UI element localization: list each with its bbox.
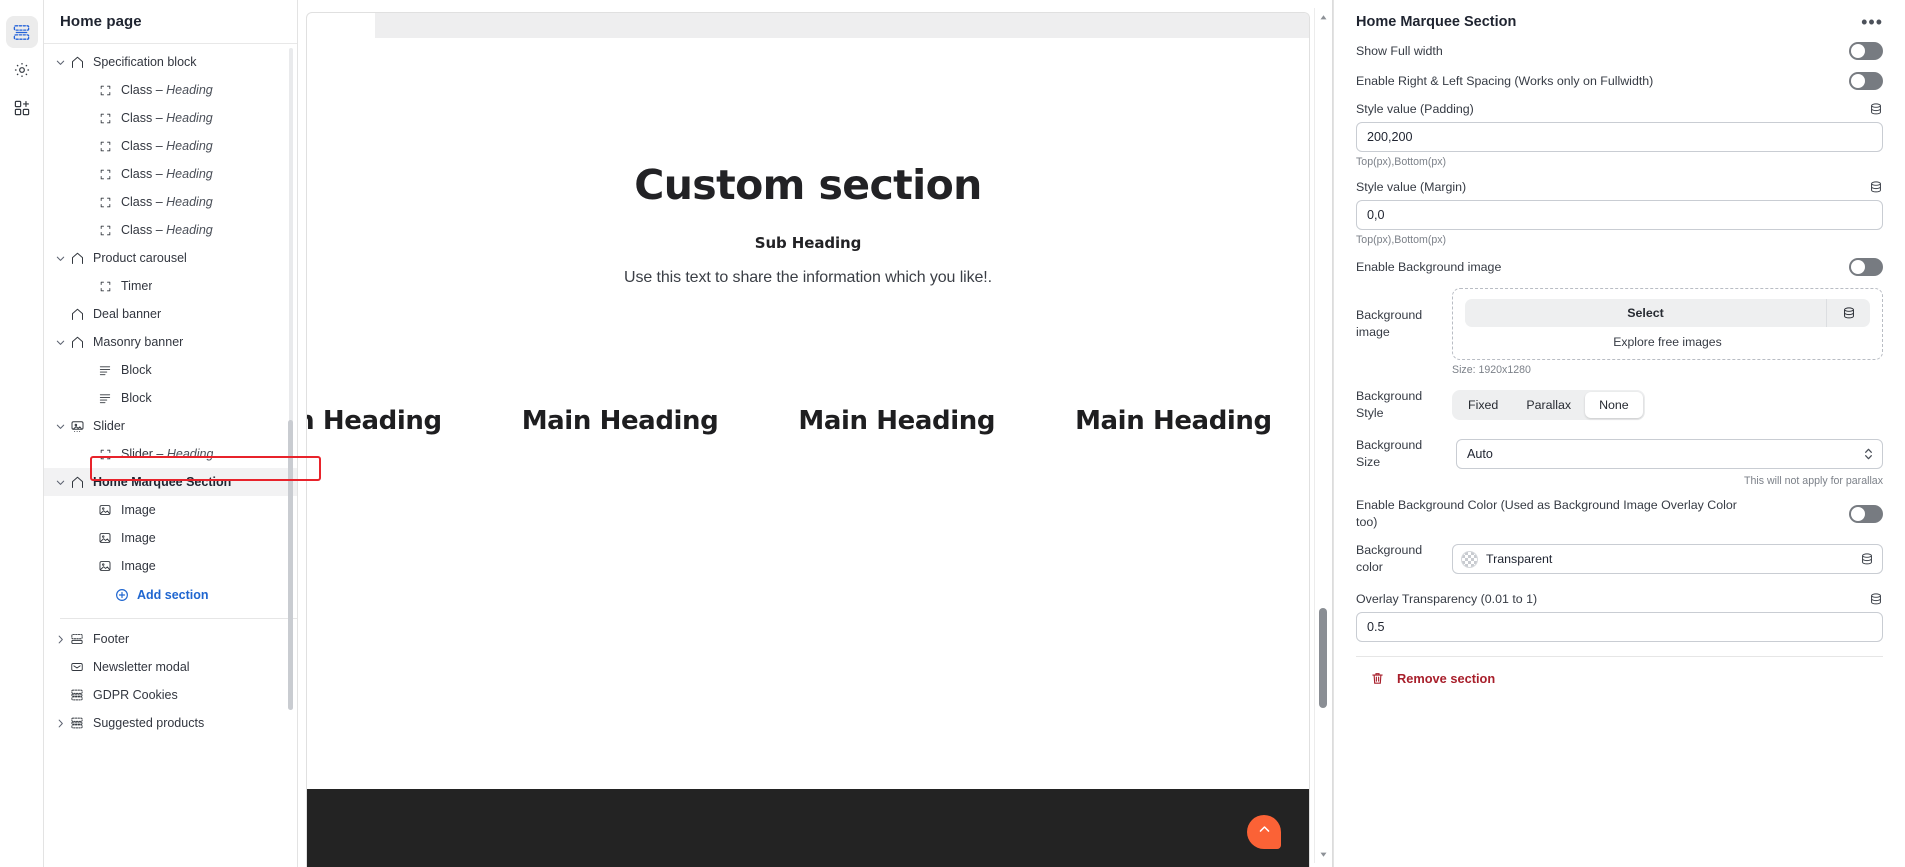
- hero-title: Custom section: [307, 163, 1309, 208]
- block-icon: [96, 445, 114, 463]
- image-icon: [96, 529, 114, 547]
- tree-item-slider[interactable]: Slider – Heading: [44, 440, 297, 468]
- chevron-down-icon[interactable]: [52, 418, 68, 434]
- background-image-size-note: Size: 1920x1280: [1452, 364, 1883, 376]
- image-icon: [96, 557, 114, 575]
- tree-item-label: GDPR Cookies: [93, 688, 178, 702]
- tree-item-gdpr-cookies[interactable]: GDPR Cookies: [44, 681, 297, 709]
- overlay-transparency-dynamic-source-icon[interactable]: [1869, 592, 1883, 606]
- tree-scroll-area[interactable]: Specification blockClass – HeadingClass …: [44, 44, 297, 867]
- tree-item-specification-block[interactable]: Specification block: [44, 48, 297, 76]
- background-size-select[interactable]: Auto: [1456, 439, 1883, 469]
- tree-item-label: Block: [121, 391, 152, 405]
- tree-item-label: Footer: [93, 632, 129, 646]
- explore-free-images-link[interactable]: Explore free images: [1613, 335, 1721, 349]
- tree-item-label: Slider – Heading: [121, 447, 213, 461]
- tree-item-timer[interactable]: Timer: [44, 272, 297, 300]
- enable-bg-color-label: Enable Background Color (Used as Backgro…: [1356, 497, 1756, 530]
- chevron-right-icon[interactable]: [52, 631, 68, 647]
- enable-bg-image-label: Enable Background image: [1356, 259, 1501, 276]
- transparent-swatch-icon: [1461, 551, 1478, 568]
- padding-label: Style value (Padding): [1356, 102, 1474, 116]
- settings-header: Home Marquee Section •••: [1356, 0, 1883, 42]
- preview-canvas: Custom section Sub Heading Use this text…: [298, 0, 1333, 867]
- background-size-note: This will not apply for parallax: [1356, 475, 1883, 487]
- tree-item-label: Class – Heading: [121, 223, 213, 237]
- tree-item-label: Class – Heading: [121, 111, 213, 125]
- scroll-down-arrow-icon[interactable]: [1318, 849, 1328, 859]
- sections-icon: [12, 23, 31, 42]
- tree-item-label: Image: [121, 531, 156, 545]
- padding-dynamic-source-icon[interactable]: [1869, 102, 1883, 116]
- preview-top-band: [375, 13, 1309, 38]
- tree-header: Home page: [44, 0, 297, 44]
- tree-item-label: Image: [121, 503, 156, 517]
- back-to-top-button[interactable]: [1247, 815, 1281, 849]
- chevron-down-icon[interactable]: [52, 54, 68, 70]
- tree-item-deal-banner[interactable]: Deal banner: [44, 300, 297, 328]
- background-image-select-group: Select: [1465, 299, 1870, 327]
- tree-item-footer[interactable]: Footer: [44, 625, 297, 653]
- background-style-option-fixed[interactable]: Fixed: [1454, 392, 1512, 418]
- tree-item-label: Class – Heading: [121, 83, 213, 97]
- select-image-dynamic-source-icon[interactable]: [1826, 299, 1870, 327]
- overlay-transparency-label-row: Overlay Transparency (0.01 to 1): [1356, 592, 1883, 606]
- chevron-updown-icon: [1863, 447, 1874, 462]
- tree-item-class[interactable]: Class – Heading: [44, 76, 297, 104]
- tree-item-class[interactable]: Class – Heading: [44, 132, 297, 160]
- background-image-label: Background image: [1356, 307, 1438, 340]
- show-full-width-row: Show Full width: [1356, 42, 1883, 60]
- canvas-scrollbar-thumb[interactable]: [1319, 608, 1327, 708]
- add-app-block-icon: [13, 99, 31, 117]
- tree-item-suggested-products[interactable]: Suggested products: [44, 709, 297, 737]
- margin-label: Style value (Margin): [1356, 180, 1466, 194]
- marquee-item: Main Heading: [798, 406, 995, 436]
- canvas-scrollbar[interactable]: [1314, 8, 1330, 863]
- text-lines-icon: [96, 389, 114, 407]
- remove-section-label: Remove section: [1397, 671, 1495, 686]
- marquee-item: Main Heading: [307, 406, 442, 436]
- tree-item-label: Timer: [121, 279, 152, 293]
- rail-item-sections[interactable]: [6, 16, 38, 48]
- tree-item-newsletter-modal[interactable]: Newsletter modal: [44, 653, 297, 681]
- overlay-transparency-input[interactable]: [1356, 612, 1883, 642]
- home-icon: [68, 53, 86, 71]
- tree-divider: [60, 618, 297, 619]
- add-section-label: Add section: [137, 588, 209, 602]
- tree-item-image[interactable]: Image: [44, 524, 297, 552]
- padding-input[interactable]: [1356, 122, 1883, 152]
- block-icon: [96, 109, 114, 127]
- chevron-down-icon[interactable]: [52, 250, 68, 266]
- tree-item-label: Home Marquee Section: [93, 475, 231, 489]
- tree-item-label: Specification block: [93, 55, 197, 69]
- right-left-spacing-label: Enable Right & Left Spacing (Works only …: [1356, 73, 1653, 90]
- padding-label-row: Style value (Padding): [1356, 102, 1883, 116]
- background-style-label: Background Style: [1356, 388, 1438, 421]
- background-color-dynamic-source-icon[interactable]: [1860, 552, 1874, 566]
- settings-gear-icon: [13, 61, 31, 79]
- background-color-label: Background color: [1356, 542, 1438, 575]
- show-full-width-toggle[interactable]: [1849, 42, 1883, 60]
- chevron-down-icon[interactable]: [52, 474, 68, 490]
- tree-item-label: Slider: [93, 419, 125, 433]
- tree-item-block[interactable]: Block: [44, 356, 297, 384]
- hero-subheading: Sub Heading: [307, 234, 1309, 252]
- block-icon: [96, 193, 114, 211]
- tree-item-label: Class – Heading: [121, 195, 213, 209]
- tree-item-label: Newsletter modal: [93, 660, 190, 674]
- footer-icon: [68, 630, 86, 648]
- overlay-transparency-label: Overlay Transparency (0.01 to 1): [1356, 592, 1537, 606]
- tree-item-label: Masonry banner: [93, 335, 183, 349]
- tree-item-label: Deal banner: [93, 307, 161, 321]
- margin-input[interactable]: [1356, 200, 1883, 230]
- background-color-value: Transparent: [1486, 552, 1852, 566]
- rail-item-app-blocks[interactable]: [6, 92, 38, 124]
- tree-scrollbar-thumb[interactable]: [288, 420, 293, 710]
- enable-bg-image-toggle[interactable]: [1849, 258, 1883, 276]
- tree-item-slider[interactable]: Slider: [44, 412, 297, 440]
- chevron-up-icon: [1257, 822, 1272, 842]
- theme-editor-app: Home page Specification blockClass – Hea…: [0, 0, 1905, 867]
- rail-item-settings[interactable]: [6, 54, 38, 86]
- tree-item-block[interactable]: Block: [44, 384, 297, 412]
- section-tree-panel: Home page Specification blockClass – Hea…: [44, 0, 298, 867]
- add-section-button[interactable]: Add section: [44, 580, 297, 610]
- background-style-option-none[interactable]: None: [1585, 392, 1643, 418]
- storefront-preview-frame[interactable]: Custom section Sub Heading Use this text…: [306, 12, 1310, 867]
- tree-item-class[interactable]: Class – Heading: [44, 160, 297, 188]
- background-color-row: Background color Transparent: [1356, 542, 1883, 575]
- envelope-icon: [68, 658, 86, 676]
- background-image-row: Background image Select Explore free ima…: [1356, 288, 1883, 360]
- background-style-option-parallax[interactable]: Parallax: [1512, 392, 1585, 418]
- enable-bg-color-row: Enable Background Color (Used as Backgro…: [1356, 497, 1883, 530]
- suggested-icon: [68, 714, 86, 732]
- plus-circle-icon: [114, 588, 129, 603]
- background-size-label: Background Size: [1356, 437, 1442, 470]
- margin-label-row: Style value (Margin): [1356, 180, 1883, 194]
- enable-bg-image-row: Enable Background image: [1356, 258, 1883, 276]
- margin-dynamic-source-icon[interactable]: [1869, 180, 1883, 194]
- tree-item-label: Image: [121, 559, 156, 573]
- cookies-icon: [68, 686, 86, 704]
- tree-item-label: Class – Heading: [121, 167, 213, 181]
- section-settings-panel: Home Marquee Section ••• Show Full width…: [1333, 0, 1905, 867]
- preview-footer-band: [307, 789, 1309, 867]
- background-size-row: Background Size Auto: [1356, 437, 1883, 470]
- marquee-item: Main Heading: [522, 406, 719, 436]
- background-color-picker[interactable]: Transparent: [1452, 544, 1883, 574]
- block-icon: [96, 221, 114, 239]
- block-icon: [96, 165, 114, 183]
- tree-item-home-marquee-section[interactable]: Home Marquee Section: [44, 468, 297, 496]
- trash-icon: [1370, 671, 1385, 686]
- block-icon: [96, 277, 114, 295]
- padding-hint: Top(px),Bottom(px): [1356, 156, 1883, 168]
- slider-icon: [68, 417, 86, 435]
- chevron-right-icon[interactable]: [52, 715, 68, 731]
- tree-item-class[interactable]: Class – Heading: [44, 216, 297, 244]
- home-icon: [68, 305, 86, 323]
- tree-item-class[interactable]: Class – Heading: [44, 104, 297, 132]
- settings-title: Home Marquee Section: [1356, 14, 1516, 30]
- background-style-row: Background Style FixedParallaxNone: [1356, 388, 1883, 421]
- block-icon: [96, 137, 114, 155]
- margin-hint: Top(px),Bottom(px): [1356, 234, 1883, 246]
- select-image-button[interactable]: Select: [1465, 299, 1826, 327]
- right-left-spacing-toggle[interactable]: [1849, 72, 1883, 90]
- background-size-value: Auto: [1467, 447, 1493, 461]
- scroll-up-arrow-icon[interactable]: [1318, 12, 1328, 22]
- background-style-segmented-control[interactable]: FixedParallaxNone: [1452, 390, 1645, 420]
- text-lines-icon: [96, 361, 114, 379]
- enable-bg-color-toggle[interactable]: [1849, 505, 1883, 523]
- home-marquee-section[interactable]: Main HeadingMain HeadingMain HeadingMain…: [307, 391, 1309, 451]
- block-icon: [96, 81, 114, 99]
- tree-item-label: Suggested products: [93, 716, 204, 730]
- background-image-dropzone[interactable]: Select Explore free images: [1452, 288, 1883, 360]
- hero-body-text: Use this text to share the information w…: [307, 269, 1309, 287]
- tree-item-label: Block: [121, 363, 152, 377]
- tree-item-product-carousel[interactable]: Product carousel: [44, 244, 297, 272]
- chevron-down-icon[interactable]: [52, 334, 68, 350]
- show-full-width-label: Show Full width: [1356, 43, 1443, 60]
- right-left-spacing-row: Enable Right & Left Spacing (Works only …: [1356, 72, 1883, 90]
- tree-item-class[interactable]: Class – Heading: [44, 188, 297, 216]
- tree-item-masonry-banner[interactable]: Masonry banner: [44, 328, 297, 356]
- page-title: Home page: [60, 13, 142, 30]
- remove-section-button[interactable]: Remove section: [1356, 657, 1883, 686]
- marquee-item: Main Heading: [1075, 406, 1272, 436]
- tree-item-label: Product carousel: [93, 251, 187, 265]
- image-icon: [96, 501, 114, 519]
- custom-section-hero: Custom section Sub Heading Use this text…: [307, 163, 1309, 287]
- left-icon-rail: [0, 0, 44, 867]
- home-icon: [68, 249, 86, 267]
- home-icon: [68, 333, 86, 351]
- home-icon: [68, 473, 86, 491]
- tree-item-image[interactable]: Image: [44, 552, 297, 580]
- tree-item-label: Class – Heading: [121, 139, 213, 153]
- more-options-icon[interactable]: •••: [1861, 17, 1883, 27]
- tree-item-image[interactable]: Image: [44, 496, 297, 524]
